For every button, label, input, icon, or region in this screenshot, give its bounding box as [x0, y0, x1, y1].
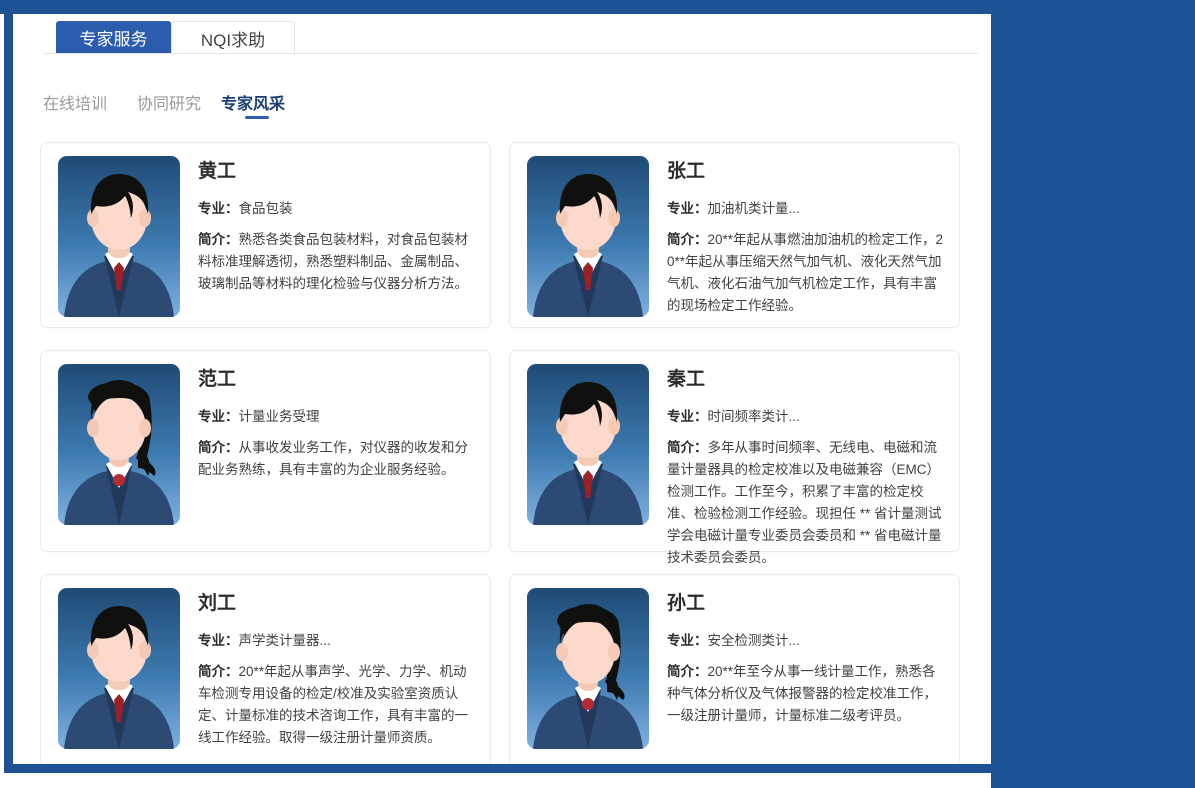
expert-major-row: 专业：食品包装	[198, 198, 476, 220]
bio-value: 20**年起从事声学、光学、力学、机动车检测专用设备的检定/校准及实验室资质认定…	[198, 664, 468, 745]
major-value: 加油机类计量...	[708, 201, 800, 216]
expert-card[interactable]: 张工 专业：加油机类计量... 简介：20**年起从事燃油加油机的检定工作，20…	[509, 142, 960, 328]
expert-major-row: 专业：计量业务受理	[198, 406, 476, 428]
expert-name: 刘工	[198, 592, 476, 616]
expert-bio-row: 简介：20**年起从事声学、光学、力学、机动车检测专用设备的检定/校准及实验室资…	[198, 661, 476, 749]
major-value: 时间频率类计...	[708, 409, 800, 424]
bio-value: 20**年至今从事一线计量工作，熟悉各种气体分析仪及气体报警器的检定校准工作，一…	[667, 664, 937, 723]
expert-info: 孙工 专业：安全检测类计... 简介：20**年至今从事一线计量工作，熟悉各种气…	[667, 588, 945, 753]
expert-info: 范工 专业：计量业务受理 简介：从事收发业务工作，对仪器的收发和分配业务熟练，具…	[198, 364, 476, 538]
male-avatar	[58, 588, 180, 749]
bio-label: 简介：	[667, 440, 708, 455]
primary-tab-bar: 专家服务 NQI求助	[13, 14, 991, 54]
expert-info: 秦工 专业：时间频率类计... 简介：多年从事时间频率、无线电、电磁和流量计量器…	[667, 364, 945, 538]
right-side-panel: 专家风采	[991, 0, 1195, 788]
expert-card[interactable]: 秦工 专业：时间频率类计... 简介：多年从事时间频率、无线电、电磁和流量计量器…	[509, 350, 960, 552]
male-avatar	[58, 156, 180, 317]
tab-label: NQI求助	[201, 26, 265, 51]
bio-label: 简介：	[198, 440, 239, 455]
expert-card[interactable]: 范工 专业：计量业务受理 简介：从事收发业务工作，对仪器的收发和分配业务熟练，具…	[40, 350, 491, 552]
subtab-label: 在线培训	[43, 96, 107, 113]
expert-major-row: 专业：加油机类计量...	[667, 198, 945, 220]
major-value: 计量业务受理	[239, 409, 320, 424]
male-avatar	[527, 156, 649, 317]
expert-bio-row: 简介：20**年起从事燃油加油机的检定工作，20**年起从事压缩天然气加气机、液…	[667, 229, 945, 317]
bio-value: 20**年起从事燃油加油机的检定工作，20**年起从事压缩天然气加气机、液化天然…	[667, 232, 943, 313]
expert-info: 张工 专业：加油机类计量... 简介：20**年起从事燃油加油机的检定工作，20…	[667, 156, 945, 314]
major-value: 声学类计量器...	[239, 633, 331, 648]
expert-name: 孙工	[667, 592, 945, 616]
main-content: 专家服务 NQI求助 在线培训 协同研究 专家风采	[13, 14, 991, 764]
subtab-collaborative-research[interactable]: 协同研究	[137, 90, 201, 114]
tab-label: 专家服务	[80, 25, 148, 50]
major-label: 专业：	[198, 409, 239, 424]
tab-nqi-help[interactable]: NQI求助	[171, 21, 295, 54]
male-avatar	[527, 364, 649, 525]
expert-name: 张工	[667, 160, 945, 184]
bio-value: 从事收发业务工作，对仪器的收发和分配业务熟练，具有丰富的为企业服务经验。	[198, 440, 468, 477]
subtab-expert-showcase[interactable]: 专家风采	[221, 90, 285, 114]
expert-bio-row: 简介：熟悉各类食品包装材料，对食品包装材料标准理解透彻，熟悉塑料制品、金属制品、…	[198, 229, 476, 295]
expert-info: 黄工 专业：食品包装 简介：熟悉各类食品包装材料，对食品包装材料标准理解透彻，熟…	[198, 156, 476, 314]
subtab-online-training[interactable]: 在线培训	[43, 90, 107, 114]
female-avatar	[58, 364, 180, 525]
frame-top-bar	[0, 0, 991, 14]
major-value: 食品包装	[239, 201, 293, 216]
bio-label: 简介：	[198, 664, 239, 679]
major-label: 专业：	[667, 201, 708, 216]
major-label: 专业：	[667, 633, 708, 648]
female-avatar	[527, 588, 649, 749]
expert-info: 刘工 专业：声学类计量器... 简介：20**年起从事声学、光学、力学、机动车检…	[198, 588, 476, 753]
frame-left-bar	[4, 0, 13, 773]
expert-card[interactable]: 刘工 专业：声学类计量器... 简介：20**年起从事声学、光学、力学、机动车检…	[40, 574, 491, 764]
major-value: 安全检测类计...	[708, 633, 800, 648]
bio-label: 简介：	[667, 232, 708, 247]
subtab-label: 协同研究	[137, 96, 201, 113]
major-label: 专业：	[667, 409, 708, 424]
frame-bottom-bar	[4, 764, 991, 773]
expert-name: 秦工	[667, 368, 945, 392]
expert-major-row: 专业：声学类计量器...	[198, 630, 476, 652]
expert-bio-row: 简介：20**年至今从事一线计量工作，熟悉各种气体分析仪及气体报警器的检定校准工…	[667, 661, 945, 727]
expert-bio-row: 简介：多年从事时间频率、无线电、电磁和流量计量器具的检定校准以及电磁兼容（EMC…	[667, 437, 945, 569]
expert-name: 黄工	[198, 160, 476, 184]
expert-bio-row: 简介：从事收发业务工作，对仪器的收发和分配业务熟练，具有丰富的为企业服务经验。	[198, 437, 476, 481]
expert-card[interactable]: 黄工 专业：食品包装 简介：熟悉各类食品包装材料，对食品包装材料标准理解透彻，熟…	[40, 142, 491, 328]
major-label: 专业：	[198, 633, 239, 648]
subtab-label: 专家风采	[221, 96, 285, 113]
tab-bar-divider	[43, 53, 978, 54]
expert-major-row: 专业：时间频率类计...	[667, 406, 945, 428]
bio-label: 简介：	[667, 664, 708, 679]
subtab-active-indicator	[245, 116, 269, 119]
secondary-tab-bar: 在线培训 协同研究 专家风采	[13, 90, 991, 126]
bio-value: 熟悉各类食品包装材料，对食品包装材料标准理解透彻，熟悉塑料制品、金属制品、玻璃制…	[198, 232, 468, 291]
tab-expert-service[interactable]: 专家服务	[56, 21, 171, 54]
bio-value: 多年从事时间频率、无线电、电磁和流量计量器具的检定校准以及电磁兼容（EMC）检测…	[667, 440, 942, 565]
expert-name: 范工	[198, 368, 476, 392]
major-label: 专业：	[198, 201, 239, 216]
expert-major-row: 专业：安全检测类计...	[667, 630, 945, 652]
expert-card-grid: 黄工 专业：食品包装 简介：熟悉各类食品包装材料，对食品包装材料标准理解透彻，熟…	[40, 142, 978, 764]
expert-card[interactable]: 孙工 专业：安全检测类计... 简介：20**年至今从事一线计量工作，熟悉各种气…	[509, 574, 960, 764]
bio-label: 简介：	[198, 232, 239, 247]
